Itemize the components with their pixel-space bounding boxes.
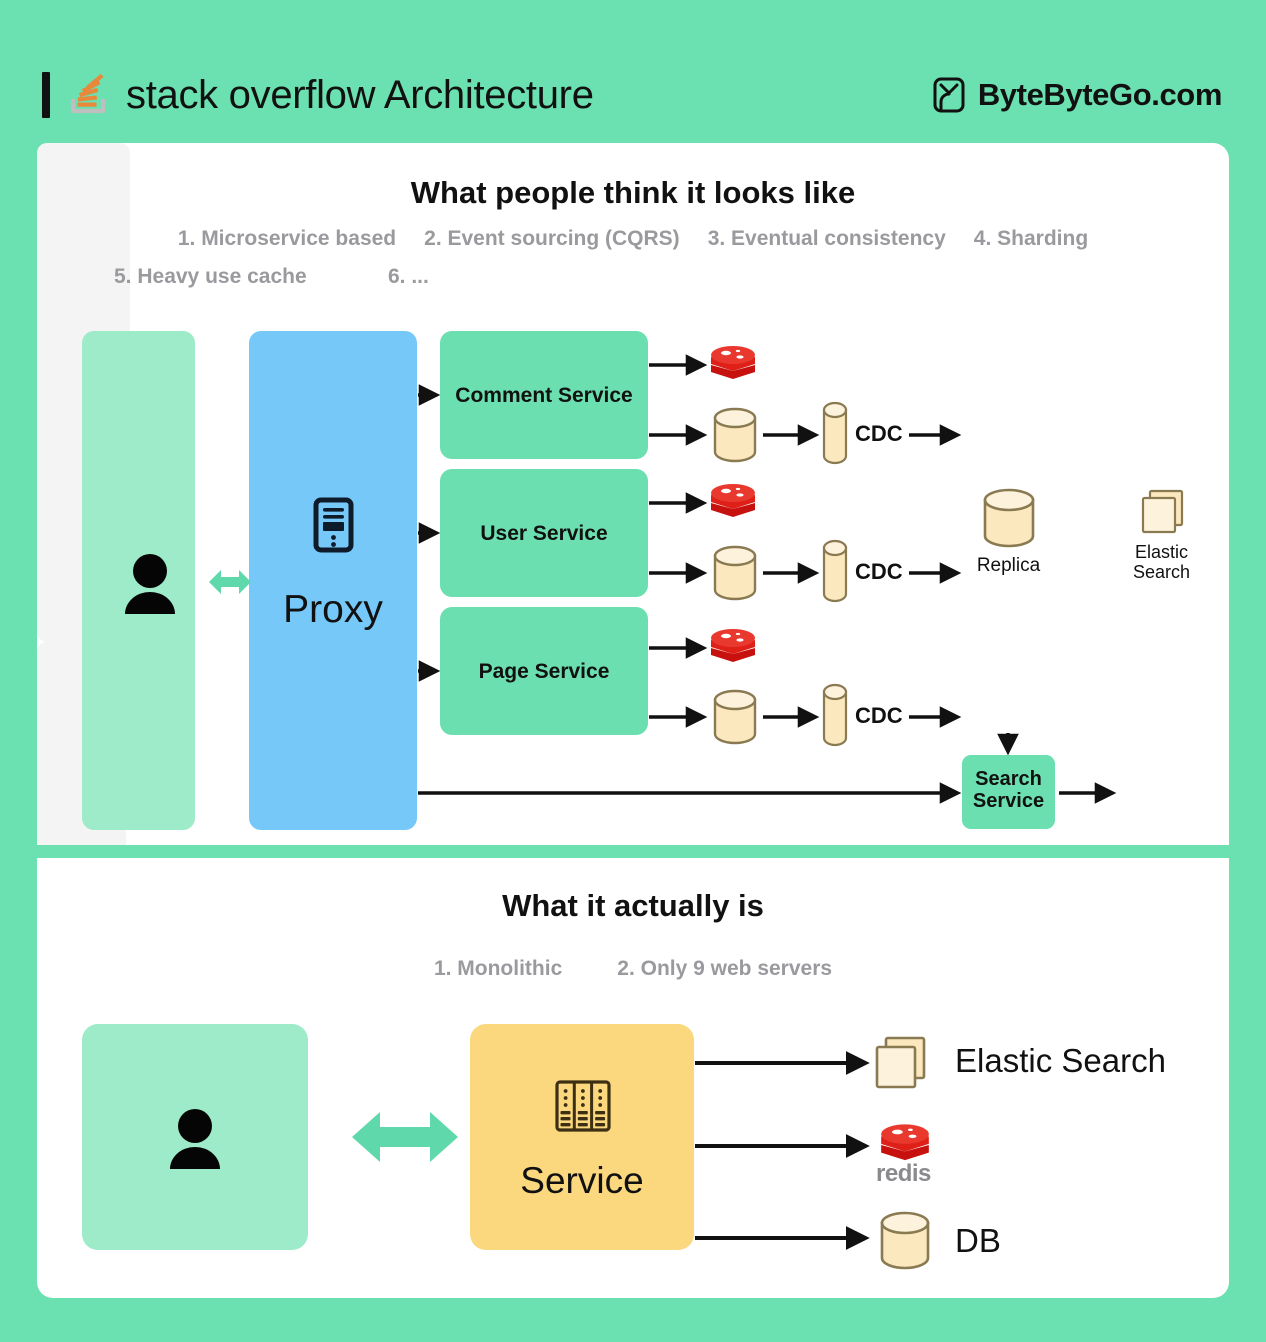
search-service-label: Search Service — [962, 768, 1055, 813]
title-group: stack overflow Architecture — [42, 50, 594, 140]
user-service-label: User Service — [440, 522, 648, 546]
title-accent-bar — [42, 72, 50, 118]
cdc-label: CDC — [855, 703, 903, 729]
redis-icon — [709, 344, 757, 386]
bullet-item: 2. Only 9 web servers — [617, 957, 832, 981]
bullet-row-1: 1. Monolithic 2. Only 9 web servers — [37, 957, 1229, 981]
cdc-label: CDC — [855, 421, 903, 447]
bullet-row-2: 5. Heavy use cache 6. ... — [37, 265, 1229, 289]
search-service-label-line2: Service — [973, 790, 1044, 812]
poster-header: stack overflow Architecture ByteByteGo.c… — [0, 50, 1266, 140]
search-service-label-line1: Search — [975, 768, 1042, 790]
user-icon — [121, 552, 179, 614]
cdc-queue-icon — [821, 539, 849, 603]
bullet-item: 1. Microservice based — [178, 227, 396, 251]
database-icon — [712, 689, 758, 745]
redis-icon — [709, 482, 757, 524]
bottom-section-title: What it actually is — [37, 888, 1229, 924]
bottom-bullets: 1. Monolithic 2. Only 9 web servers — [37, 957, 1229, 981]
top-bullets: 1. Microservice based 2. Event sourcing … — [37, 227, 1229, 289]
database-icon — [712, 407, 758, 463]
bullet-item: 6. ... — [388, 265, 429, 289]
brand-name: ByteByteGo.com — [978, 77, 1222, 113]
monolith-service-box[interactable] — [470, 1024, 694, 1250]
proxy-label: Proxy — [249, 588, 417, 632]
comment-service-label: Comment Service — [440, 384, 648, 408]
db-target-label: DB — [955, 1223, 1155, 1260]
bullet-item: 4. Sharding — [974, 227, 1088, 251]
bullet-item: 1. Monolithic — [434, 957, 562, 981]
brand-group[interactable]: ByteByteGo.com — [932, 50, 1222, 140]
proxy-box[interactable] — [249, 331, 417, 830]
cdc-label: CDC — [855, 559, 903, 585]
server-tower-icon — [313, 497, 354, 553]
cdc-queue-icon — [821, 401, 849, 465]
bullet-item: 3. Eventual consistency — [708, 227, 946, 251]
database-icon — [712, 545, 758, 601]
bidirectional-arrow-icon — [209, 557, 251, 607]
bullet-item: 5. Heavy use cache — [114, 265, 336, 289]
user-icon — [166, 1107, 224, 1169]
elastic-search-label-line1: Elastic — [1135, 542, 1188, 562]
panel-divider — [37, 845, 1229, 858]
poster-root: stack overflow Architecture ByteByteGo.c… — [0, 0, 1266, 1342]
redis-target-label: redis — [876, 1160, 931, 1188]
page-service-label: Page Service — [440, 660, 648, 684]
panel-what-it-actually-is: What it actually is 1. Monolithic 2. Onl… — [37, 858, 1229, 1298]
bullet-row-1: 1. Microservice based 2. Event sourcing … — [37, 227, 1229, 251]
replica-label: Replica — [962, 555, 1055, 576]
bullet-item: 2. Event sourcing (CQRS) — [424, 227, 680, 251]
stack-overflow-logo-icon — [64, 71, 112, 119]
documents-stack-icon — [1141, 489, 1185, 537]
redis-icon — [709, 627, 757, 669]
documents-stack-icon — [875, 1036, 927, 1091]
bidirectional-arrow-icon — [352, 1108, 458, 1166]
server-rack-icon — [555, 1078, 611, 1134]
elastic-search-target-label: Elastic Search — [955, 1043, 1266, 1080]
monolith-service-label: Service — [470, 1160, 694, 1201]
cdc-queue-icon — [821, 683, 849, 747]
database-icon — [879, 1211, 931, 1271]
replica-database-icon — [982, 488, 1036, 550]
elastic-search-label: Elastic Search — [1117, 542, 1206, 582]
panel-what-people-think: What people think it looks like 1. Micro… — [37, 143, 1229, 845]
elastic-search-label-line2: Search — [1133, 562, 1190, 582]
bytebytego-logo-icon — [932, 76, 966, 114]
page-title: stack overflow Architecture — [126, 73, 594, 118]
top-section-title: What people think it looks like — [37, 175, 1229, 211]
